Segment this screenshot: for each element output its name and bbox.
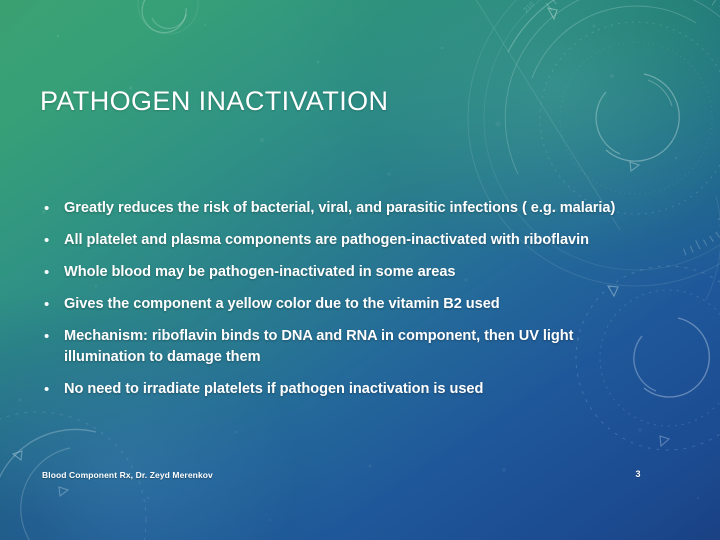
bullet-text: Gives the component a yellow color due t…	[64, 294, 648, 315]
svg-text:210: 210	[523, 1, 536, 14]
dial-arc-mid-1	[508, 0, 680, 52]
list-item: • Greatly reduces the risk of bacterial,…	[40, 198, 648, 219]
slide-page-number: 3	[628, 469, 648, 479]
dial-degree-labels: 210 200 190 180 170 160 150 140 130 120 …	[523, 0, 720, 209]
list-item: • Whole blood may be pathogen-inactivate…	[40, 262, 648, 283]
arc-motif-right-edge	[706, 196, 720, 300]
dial-broken-ring-cap	[648, 80, 672, 106]
circle-motif-top-left	[138, 0, 198, 34]
presentation-slide: 210 200 190 180 170 160 150 140 130 120 …	[0, 0, 720, 540]
slide-title: PATHOGEN INACTIVATION	[40, 86, 388, 117]
footer-credit: Blood Component Rx, Dr. Zeyd Merenkov	[42, 470, 213, 480]
bullet-text: Mechanism: riboflavin binds to DNA and R…	[64, 326, 648, 368]
bullet-marker-icon: •	[40, 262, 64, 283]
dial-pointer-arrow-top	[548, 8, 557, 19]
arc-arrow-right	[59, 487, 68, 496]
bullet-marker-icon: •	[40, 230, 64, 251]
dial-arc-mid-2	[505, 0, 720, 220]
bullet-text: Greatly reduces the risk of bacterial, v…	[64, 198, 648, 219]
bullet-marker-icon: •	[40, 198, 64, 219]
diagonal-hairline	[470, 0, 620, 230]
list-item: • No need to irradiate platelets if path…	[40, 379, 648, 400]
dial2-broken-ring-outer	[644, 318, 709, 397]
dial-dashed-ring-2	[560, 42, 712, 194]
bullet-marker-icon: •	[40, 326, 64, 347]
list-item: • All platelet and plasma components are…	[40, 230, 648, 251]
dial-broken-ring-outer	[606, 74, 679, 161]
dial-dashed-ring	[540, 22, 720, 214]
dial2-arrow-down	[660, 436, 669, 446]
bullet-list: • Greatly reduces the risk of bacterial,…	[40, 198, 648, 411]
bullet-text: Whole blood may be pathogen-inactivated …	[64, 262, 648, 283]
dial-pointer-arrow-bottom	[630, 162, 639, 171]
bullet-text: All platelet and plasma components are p…	[64, 230, 648, 251]
arc-arrow-left	[13, 451, 22, 460]
bullet-text: No need to irradiate platelets if pathog…	[64, 379, 648, 400]
bullet-marker-icon: •	[40, 379, 64, 400]
list-item: • Mechanism: riboflavin binds to DNA and…	[40, 326, 648, 368]
dial-broken-ring-inner	[596, 92, 620, 154]
list-item: • Gives the component a yellow color due…	[40, 294, 648, 315]
dial-arc-mid-3	[532, 6, 696, 78]
bullet-marker-icon: •	[40, 294, 64, 315]
